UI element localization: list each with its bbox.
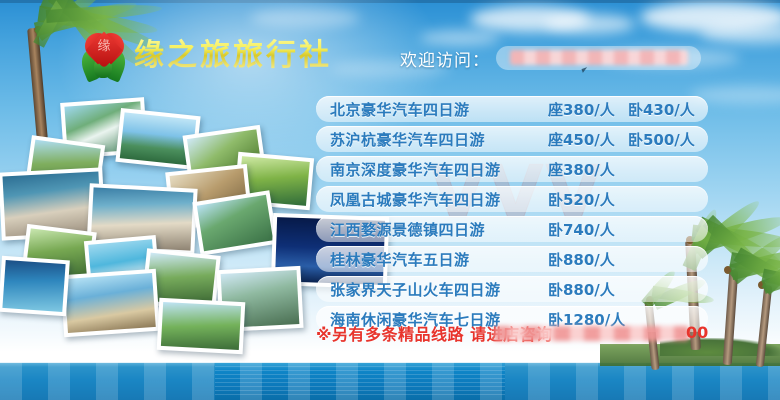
tour-name: 张家界天子山火车四日游	[330, 279, 501, 300]
photo-image	[197, 195, 273, 251]
tour-row[interactable]: 桂林豪华汽车五日游卧880/人	[316, 246, 708, 272]
tour-row[interactable]: 江西婺源景德镇四日游卧740/人	[316, 216, 708, 242]
photo-image	[2, 260, 65, 312]
tour-name: 苏沪杭豪华汽车四日游	[330, 129, 485, 150]
tour-row[interactable]: 凤凰古城豪华汽车四日游卧520/人	[316, 186, 708, 212]
tour-row[interactable]: 北京豪华汽车四日游座380/人卧430/人	[316, 96, 708, 122]
tour-name: 北京豪华汽车四日游	[330, 99, 470, 120]
tour-price-seat: 座380/人	[548, 99, 615, 120]
photo-image	[161, 302, 241, 350]
tour-row[interactable]: 苏沪杭豪华汽车四日游座450/人卧500/人	[316, 126, 708, 152]
tour-price-seat: 卧880/人	[548, 279, 615, 300]
redacted-website	[510, 50, 688, 65]
sea-overlay	[0, 362, 780, 400]
redacted-phone	[494, 326, 689, 341]
tour-list: 北京豪华汽车四日游座380/人卧430/人苏沪杭豪华汽车四日游座450/人卧50…	[316, 96, 708, 336]
tour-price-sleeper: 卧500/人	[628, 129, 695, 150]
brand-logo: 缘 缘之旅旅行社 缘之旅旅行社	[78, 28, 378, 84]
tour-price-seat: 座450/人	[548, 129, 615, 150]
collage-photo-city-park	[157, 298, 246, 354]
tour-name: 凤凰古城豪华汽车四日游	[330, 189, 501, 210]
heart-leaf-icon: 缘	[82, 28, 126, 68]
collage-photo-beach-palm	[60, 269, 160, 338]
tour-name: 桂林豪华汽车五日游	[330, 249, 470, 270]
welcome-bar: 欢迎访问：	[400, 44, 701, 72]
website-field[interactable]	[496, 46, 701, 70]
logo-character: 缘	[95, 38, 113, 56]
photo-image	[64, 273, 156, 333]
tour-row[interactable]: 张家界天子山火车四日游卧880/人	[316, 276, 708, 302]
collage-photo-blue-lagoon	[0, 256, 70, 317]
tour-name: 南京深度豪华汽车四日游	[330, 159, 501, 180]
tour-name: 江西婺源景德镇四日游	[330, 219, 485, 240]
brand-name: 缘之旅旅行社	[134, 30, 332, 74]
palm-trunk	[723, 270, 739, 365]
tour-row[interactable]: 南京深度豪华汽车四日游座380/人	[316, 156, 708, 182]
tour-price-seat: 座380/人	[548, 159, 615, 180]
welcome-label: 欢迎访问：	[400, 46, 490, 71]
footer-note: ※另有多条精品线路 请进店咨询 00	[316, 320, 553, 346]
cloud	[545, 14, 635, 34]
palm-trunk	[756, 285, 773, 367]
travel-agency-poster: VVV 缘 缘之旅旅行社 缘之旅旅行社 欢迎访问： 北京豪华汽车四日游座380/…	[0, 0, 780, 400]
tour-price-sleeper: 卧430/人	[628, 99, 695, 120]
phone-tail: 00	[686, 323, 708, 342]
tour-price-seat: 卧880/人	[548, 249, 615, 270]
tour-price-seat: 卧740/人	[548, 219, 615, 240]
tour-price-seat: 卧520/人	[548, 189, 615, 210]
